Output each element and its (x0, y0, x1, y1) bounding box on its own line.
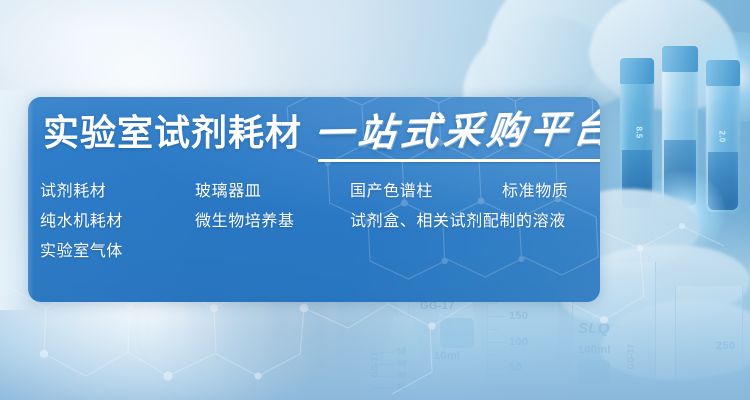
category-item-domestic-chromatography-column[interactable]: 国产色谱柱 (350, 177, 502, 207)
panel-title-script-wrap: 一站式采购平台 (315, 111, 600, 153)
category-item-reference-material[interactable]: 标准物质 (502, 177, 568, 207)
category-grid: 试剂耗材 玻璃器皿 国产色谱柱 标准物质 纯水机耗材 微生物培养基 试剂盒、相关… (40, 177, 590, 267)
category-row-2: 纯水机耗材 微生物培养基 试剂盒、相关试剂配制的溶液 (40, 207, 590, 237)
category-row-1: 试剂耗材 玻璃器皿 国产色谱柱 标准物质 (40, 177, 590, 207)
panel-title-main: 实验室试剂耗材 (43, 113, 302, 153)
category-item-glassware[interactable]: 玻璃器皿 (195, 177, 350, 207)
category-item-water-purifier-consumables[interactable]: 纯水机耗材 (40, 207, 195, 237)
category-item-microbial-culture-media[interactable]: 微生物培养基 (195, 207, 350, 237)
promo-panel: 实验室试剂耗材 一站式采购平台 试剂耗材 玻璃器皿 国产色谱柱 标准物质 纯水机… (28, 97, 600, 302)
category-item-reagent-consumables[interactable]: 试剂耗材 (40, 177, 195, 207)
panel-title-underline (318, 159, 600, 162)
category-row-3: 实验室气体 (40, 237, 590, 267)
category-item-reagent-kits-solutions[interactable]: 试剂盒、相关试剂配制的溶液 (350, 207, 566, 237)
panel-title-row: 实验室试剂耗材 一站式采购平台 (43, 111, 588, 153)
category-item-laboratory-gas[interactable]: 实验室气体 (40, 237, 195, 267)
promo-banner: 8.5 2.0 50 40 30 20 GG-17 10ml GG-17 250… (0, 0, 750, 400)
panel-title-script: 一站式采购平台 (313, 108, 600, 153)
